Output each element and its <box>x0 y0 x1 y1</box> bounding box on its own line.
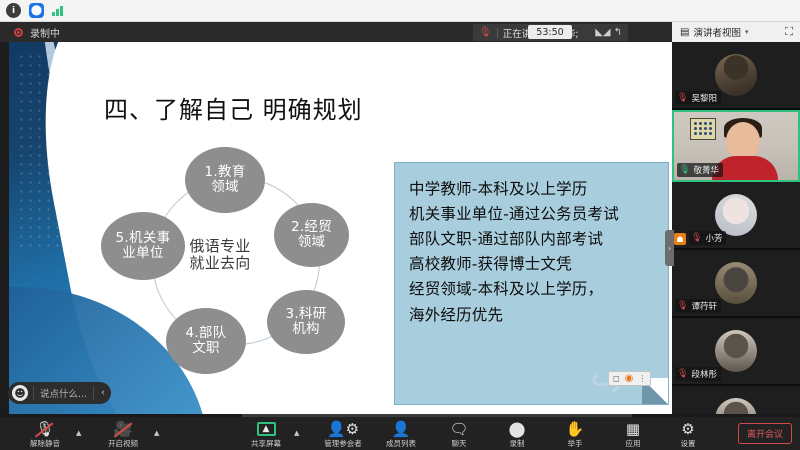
diagram-node-3: 3.科研 机构 <box>267 290 345 354</box>
slide-textbox: 中学教师-本科及以上学历 机关事业单位-通过公务员考试 部队文职-通过部队内部考… <box>394 162 669 405</box>
meeting-frame: 录制中 🎙 正在讲话: 敬菁华; ◣◢ ↰ 53:50 ▤ 演讲者视图 ▾ ⛶ <box>0 22 800 450</box>
shield-icon[interactable]: ⬤ <box>29 3 44 18</box>
participant-nameplate: 🎙 小芳 <box>689 231 726 245</box>
camera-icon[interactable]: ◻ <box>613 374 620 383</box>
annotation-mini-toolbar[interactable]: ◻ ◉ ⋮ <box>608 371 651 386</box>
participant-name: 小芳 <box>705 232 722 244</box>
toolbar-settings-label: 设置 <box>681 438 696 449</box>
mic-muted-icon: 🎙 <box>677 369 688 379</box>
slide-title: 四、了解自己 明确规划 <box>104 90 363 125</box>
share-screen-icon: ▲ <box>257 420 276 437</box>
diagram-node-4: 4.部队 文职 <box>166 308 246 374</box>
camera-muted-icon: 🎥 <box>114 420 133 437</box>
diagram-node-1: 1.教育 领域 <box>185 147 265 213</box>
toolbar-chat-button[interactable]: 🗨 聊天 <box>436 420 482 449</box>
meeting-toolbar: 🎙 解除静音 ▲ 🎥 开启视频 ▲ ▲ 共享屏幕 ▲ 👤⚙ 管理参会者 👤 成员… <box>0 417 800 450</box>
participant-strip[interactable]: 🎙 吴黎阳 🎙 敬菁华 ☗ <box>672 42 800 450</box>
info-icon[interactable]: i <box>6 3 21 18</box>
chat-bubble-icon: 🗨 <box>449 420 468 437</box>
node-3-line-1: 3.科研 <box>285 307 326 322</box>
node-4-line-1: 4.部队 <box>185 326 226 341</box>
diagram-node-2: 2.经贸 领域 <box>274 203 349 267</box>
center-line-2: 就业去向 <box>189 255 250 272</box>
participant-nameplate: 🎙 段林彤 <box>675 367 721 381</box>
center-line-1: 俄语专业 <box>189 238 250 255</box>
apps-grid-icon: ▦ <box>626 420 640 437</box>
textbox-line-2: 机关事业单位-通过公务员考试 <box>409 202 656 227</box>
mic-muted-icon: 🎙 <box>479 27 492 38</box>
toolbar-share-button[interactable]: ▲ 共享屏幕 <box>243 420 289 449</box>
toolbar-raisehand-label: 举手 <box>568 438 583 449</box>
mic-active-icon: 🎙 <box>679 165 690 175</box>
node-1-line-1: 1.教育 <box>204 165 245 180</box>
host-badge-icon: ☗ <box>674 233 686 245</box>
back-arrow-icon[interactable]: ↰ <box>614 27 622 38</box>
avatar <box>715 262 757 304</box>
mic-muted-icon: 🎙 <box>677 93 688 103</box>
participant-name: 段林彤 <box>691 368 717 380</box>
collapse-icon[interactable]: ◣◢ <box>595 27 610 38</box>
textbox-line-6: 海外经历优先 <box>409 303 656 328</box>
chat-placeholder[interactable]: 说点什么... <box>33 386 94 400</box>
shared-screen-slide: 四、了解自己 明确规划 俄语专业 就业去向 1.教育 领域 <box>9 42 672 417</box>
recording-label: 录制中 <box>30 25 60 40</box>
quick-chat-input[interactable]: ☻ 说点什么... ‹ <box>8 382 111 404</box>
chat-collapse-icon[interactable]: ‹ <box>99 388 107 398</box>
signal-bars-icon[interactable] <box>52 5 63 16</box>
participant-name: 敬菁华 <box>693 164 719 176</box>
mic-muted-icon: 🎙 <box>677 301 688 311</box>
toolbar-manage-label: 管理参会者 <box>324 438 362 449</box>
node-5-line-1: 5.机关事 <box>116 231 171 246</box>
participant-tile[interactable]: 🎙 谭荇轩 <box>672 250 800 318</box>
annotate-icon[interactable]: ◉ <box>625 373 634 384</box>
diagram-node-5: 5.机关事 业单位 <box>101 212 185 280</box>
smiley-icon[interactable]: ☻ <box>12 385 28 401</box>
participant-nameplate: 🎙 敬菁华 <box>677 163 723 177</box>
view-mode-selector[interactable]: ▤ 演讲者视图 ▾ <box>672 25 748 39</box>
toolbar-settings-button[interactable]: ⚙ 设置 <box>665 420 711 449</box>
toolbar-apps-button[interactable]: ▦ 应用 <box>610 420 656 449</box>
textbox-line-5: 经贸领域-本科及以上学历， <box>409 277 656 302</box>
toolbar-apps-label: 应用 <box>626 438 641 449</box>
avatar <box>715 194 757 236</box>
toolbar-manage-button[interactable]: 👤⚙ 管理参会者 <box>320 420 366 449</box>
diagram-center-node: 俄语专业 就业去向 <box>174 217 266 293</box>
person-icon: 👤 <box>392 420 411 437</box>
textbox-line-1: 中学教师-本科及以上学历 <box>409 177 656 202</box>
toolbar-share-label: 共享屏幕 <box>251 438 281 449</box>
participant-tile[interactable]: ☗ 🎙 小芳 <box>672 182 800 250</box>
toolbar-record-button[interactable]: ⬤ 录制 <box>494 420 540 449</box>
participant-name: 吴黎阳 <box>691 92 717 104</box>
view-mode-header: ▤ 演讲者视图 ▾ ⛶ <box>672 22 800 42</box>
career-diagram: 俄语专业 就业去向 1.教育 领域 2.经贸 领域 <box>104 145 374 390</box>
zoom-meeting-window: i ⬤ 录制中 🎙 正在讲话: 敬菁华; ◣◢ ↰ 53:50 ▤ 演讲 <box>0 0 800 450</box>
meeting-timer: 53:50 <box>528 25 572 39</box>
participant-nameplate: 🎙 吴黎阳 <box>675 91 721 105</box>
panel-collapse-handle[interactable]: › <box>665 230 674 266</box>
node-1-line-2: 领域 <box>204 180 245 195</box>
raise-hand-icon: ✋ <box>566 420 585 437</box>
gear-icon: ⚙ <box>681 420 694 437</box>
participant-tile-active-speaker[interactable]: 🎙 敬菁华 <box>672 110 800 182</box>
fullscreen-icon[interactable]: ⛶ <box>785 25 793 39</box>
mic-muted-icon: 🎙 <box>35 420 54 437</box>
participant-tile[interactable]: 🎙 吴黎阳 <box>672 42 800 110</box>
avatar <box>715 54 757 96</box>
face-shape <box>726 122 760 160</box>
participant-name: 谭荇轩 <box>691 300 717 312</box>
manage-people-icon: 👤⚙ <box>327 420 359 437</box>
node-5-line-2: 业单位 <box>116 246 171 261</box>
participant-nameplate: 🎙 谭荇轩 <box>675 299 721 313</box>
audio-options-chevron-icon[interactable]: ▲ <box>76 429 81 437</box>
layout-icon: ▤ <box>680 27 689 38</box>
textbox-line-4: 高校教师-获得博士文凭 <box>409 252 656 277</box>
toolbar-raisehand-button[interactable]: ✋ 举手 <box>552 420 598 449</box>
toolbar-video-button[interactable]: 🎥 开启视频 <box>100 420 146 449</box>
record-dot-icon <box>14 28 23 37</box>
view-mode-label: 演讲者视图 <box>693 25 741 39</box>
node-4-line-2: 文职 <box>185 341 226 356</box>
participant-tile[interactable]: 🎙 段林彤 <box>672 318 800 386</box>
avatar <box>715 330 757 372</box>
toolbar-audio-label: 解除静音 <box>30 438 60 449</box>
system-tray-bar: i ⬤ <box>0 0 800 22</box>
record-circle-icon: ⬤ <box>509 420 526 437</box>
toolbar-audio-button[interactable]: 🎙 解除静音 <box>22 420 68 449</box>
mic-muted-icon: 🎙 <box>691 233 702 243</box>
toolbar-members-label: 成员列表 <box>386 438 416 449</box>
more-options-icon[interactable]: ⋮ <box>638 374 646 383</box>
banner-controls[interactable]: ◣◢ ↰ <box>595 27 622 38</box>
node-3-line-2: 机构 <box>285 322 326 337</box>
toolbar-chat-label: 聊天 <box>452 438 467 449</box>
toolbar-members-button[interactable]: 👤 成员列表 <box>378 420 424 449</box>
share-options-chevron-icon[interactable]: ▲ <box>294 429 299 437</box>
node-2-line-2: 领域 <box>291 235 332 250</box>
leave-meeting-button[interactable]: 离开会议 <box>738 423 792 444</box>
wall-picture <box>690 118 716 140</box>
chevron-down-icon: ▾ <box>745 28 749 36</box>
toolbar-record-label: 录制 <box>510 438 525 449</box>
divider <box>497 28 498 38</box>
textbox-line-3: 部队文职-通过部队内部考试 <box>409 227 656 252</box>
toolbar-video-label: 开启视频 <box>108 438 138 449</box>
video-options-chevron-icon[interactable]: ▲ <box>154 429 159 437</box>
node-2-line-1: 2.经贸 <box>291 220 332 235</box>
